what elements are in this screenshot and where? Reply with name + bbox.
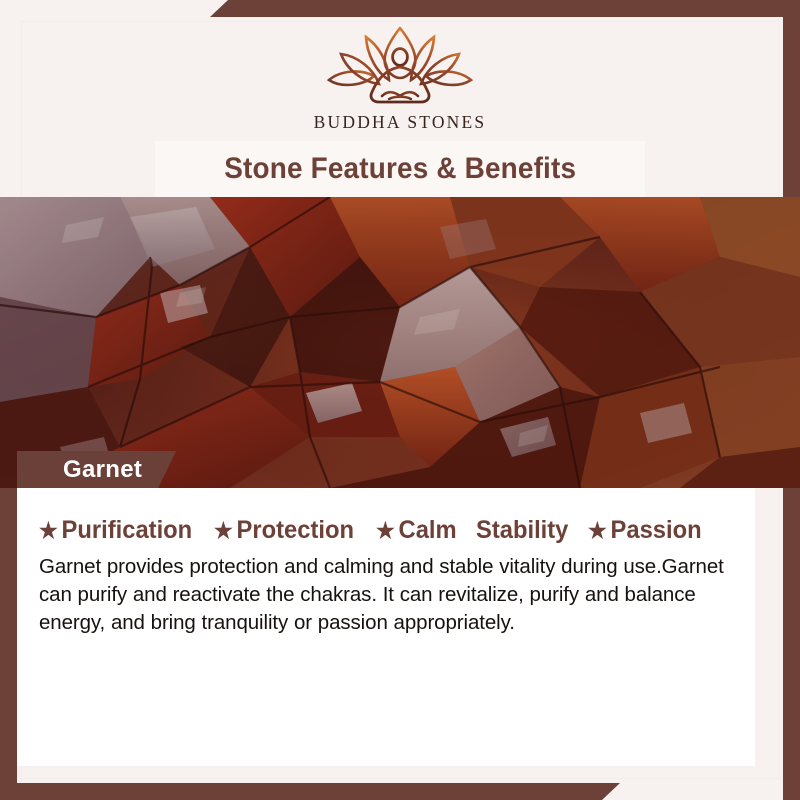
infographic-page: BUDDHA STONES Stone Features & Benefits <box>0 0 800 800</box>
benefit-label: Passion <box>610 516 701 545</box>
star-icon: ★ <box>588 520 607 542</box>
benefit-item: ★ Calm <box>376 516 457 545</box>
title-banner: Stone Features & Benefits <box>155 141 645 197</box>
star-icon: ★ <box>214 520 233 542</box>
benefits-list: ★ Purification ★ Protection ★ Calm Stabi… <box>39 516 731 545</box>
benefit-label: Calm <box>398 516 456 545</box>
stone-description: Garnet provides protection and calming a… <box>39 553 731 637</box>
benefit-label: Purification <box>62 516 193 545</box>
page-title: Stone Features & Benefits <box>224 152 576 186</box>
lotus-meditation-icon <box>325 26 475 108</box>
benefit-item: Stability <box>476 516 568 545</box>
content-card: ★ Purification ★ Protection ★ Calm Stabi… <box>17 488 755 766</box>
star-icon: ★ <box>376 520 395 542</box>
benefit-item: ★ Purification <box>39 516 192 545</box>
stone-name-tag: Garnet <box>17 451 176 488</box>
benefit-label: Stability <box>476 516 568 545</box>
benefit-item: ★ Protection <box>214 516 354 545</box>
stone-name-label: Garnet <box>63 456 142 484</box>
benefit-item: ★ Passion <box>588 516 702 545</box>
frame-band-bottom <box>0 783 620 800</box>
benefit-label: Protection <box>237 516 354 545</box>
garnet-crystal-cluster-photo <box>0 197 800 488</box>
star-icon: ★ <box>39 520 58 542</box>
brand-wordmark: BUDDHA STONES <box>314 112 487 133</box>
stone-photo <box>0 197 800 488</box>
